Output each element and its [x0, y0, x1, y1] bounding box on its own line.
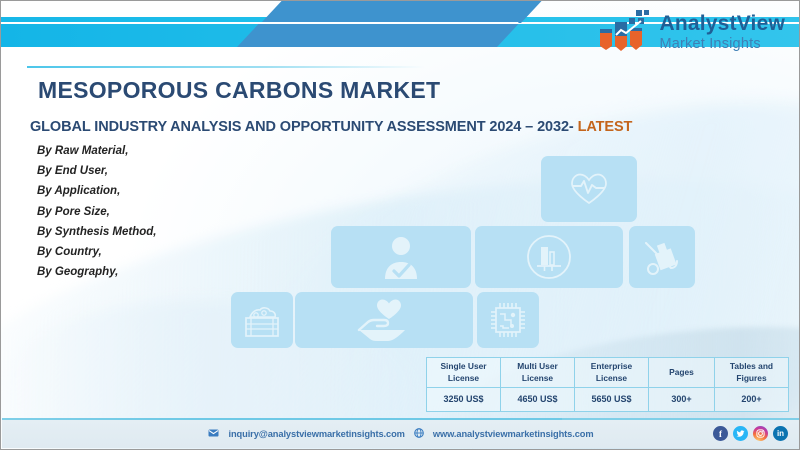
brand-logo[interactable]: AnalystView Market Insights: [596, 9, 785, 56]
food-crate-icon: [242, 301, 282, 339]
table-value-cell: 5650 US$: [575, 388, 649, 412]
banner-diagonal-shape: [237, 24, 518, 47]
heartbeat-icon: [569, 172, 609, 206]
microchip-icon: [487, 299, 529, 341]
chart-circle-icon: [525, 233, 573, 281]
globe-icon: [414, 428, 424, 440]
list-item: By Pore Size,: [37, 206, 157, 218]
table-header-cell: Single User License: [427, 358, 501, 388]
contact-website[interactable]: www.analystviewmarketinsights.com: [433, 429, 594, 439]
hand-heart-icon: [355, 298, 413, 342]
table-header-cell: Multi User License: [501, 358, 575, 388]
icon-tile: [295, 292, 473, 348]
logo-brand-name: AnalystView: [659, 13, 785, 34]
instagram-icon[interactable]: [753, 426, 768, 441]
subtitle-highlight: LATEST: [578, 119, 633, 135]
icon-tile: [541, 156, 637, 222]
table-value-cell: 3250 US$: [427, 388, 501, 412]
banner-diagonal-shape: [261, 1, 542, 23]
twitter-icon[interactable]: [733, 426, 748, 441]
table-header-cell: Pages: [649, 358, 715, 388]
facebook-icon[interactable]: f: [713, 426, 728, 441]
table-row: Single User License Multi User License E…: [427, 358, 789, 388]
list-item: By Country,: [37, 246, 157, 258]
page-subtitle: GLOBAL INDUSTRY ANALYSIS AND OPPORTUNITY…: [30, 119, 632, 135]
social-links: f in: [713, 426, 788, 441]
icon-tile: [231, 292, 293, 348]
report-cover-slide: AnalystView Market Insights MESOPOROUS C…: [0, 0, 800, 450]
logo-tagline: Market Insights: [659, 37, 785, 52]
contact-info: inquiry@analystviewmarketinsights.com ww…: [2, 420, 800, 448]
footer-bar: inquiry@analystviewmarketinsights.com ww…: [2, 418, 800, 448]
list-item: By Geography,: [37, 266, 157, 278]
user-check-icon: [381, 235, 421, 279]
list-item: By Raw Material,: [37, 145, 157, 157]
table-value-cell: 300+: [649, 388, 715, 412]
list-item: By Application,: [37, 185, 157, 197]
page-title: MESOPOROUS CARBONS MARKET: [38, 77, 440, 104]
banner-diagonal-gap: [247, 22, 519, 24]
contact-email[interactable]: inquiry@analystviewmarketinsights.com: [228, 429, 404, 439]
table-value-cell: 200+: [715, 388, 789, 412]
list-item: By End User,: [37, 165, 157, 177]
bar-chart-logo-icon: [596, 9, 652, 56]
envelope-icon: [208, 429, 219, 439]
table-header-cell: Tables and Figures: [715, 358, 789, 388]
list-item: By Synthesis Method,: [37, 226, 157, 238]
linkedin-icon[interactable]: in: [773, 426, 788, 441]
icon-tile: [477, 292, 539, 348]
pricing-table: Single User License Multi User License E…: [426, 357, 789, 412]
hand-truck-icon: [641, 237, 683, 277]
title-divider: [27, 66, 425, 68]
icon-tile: [629, 226, 695, 288]
table-row: 3250 US$ 4650 US$ 5650 US$ 300+ 200+: [427, 388, 789, 412]
icon-tile: [331, 226, 471, 288]
segment-list: By Raw Material, By End User, By Applica…: [37, 145, 157, 286]
icon-tile: [475, 226, 623, 288]
subtitle-text: GLOBAL INDUSTRY ANALYSIS AND OPPORTUNITY…: [30, 119, 574, 135]
table-value-cell: 4650 US$: [501, 388, 575, 412]
table-header-cell: Enterprise License: [575, 358, 649, 388]
